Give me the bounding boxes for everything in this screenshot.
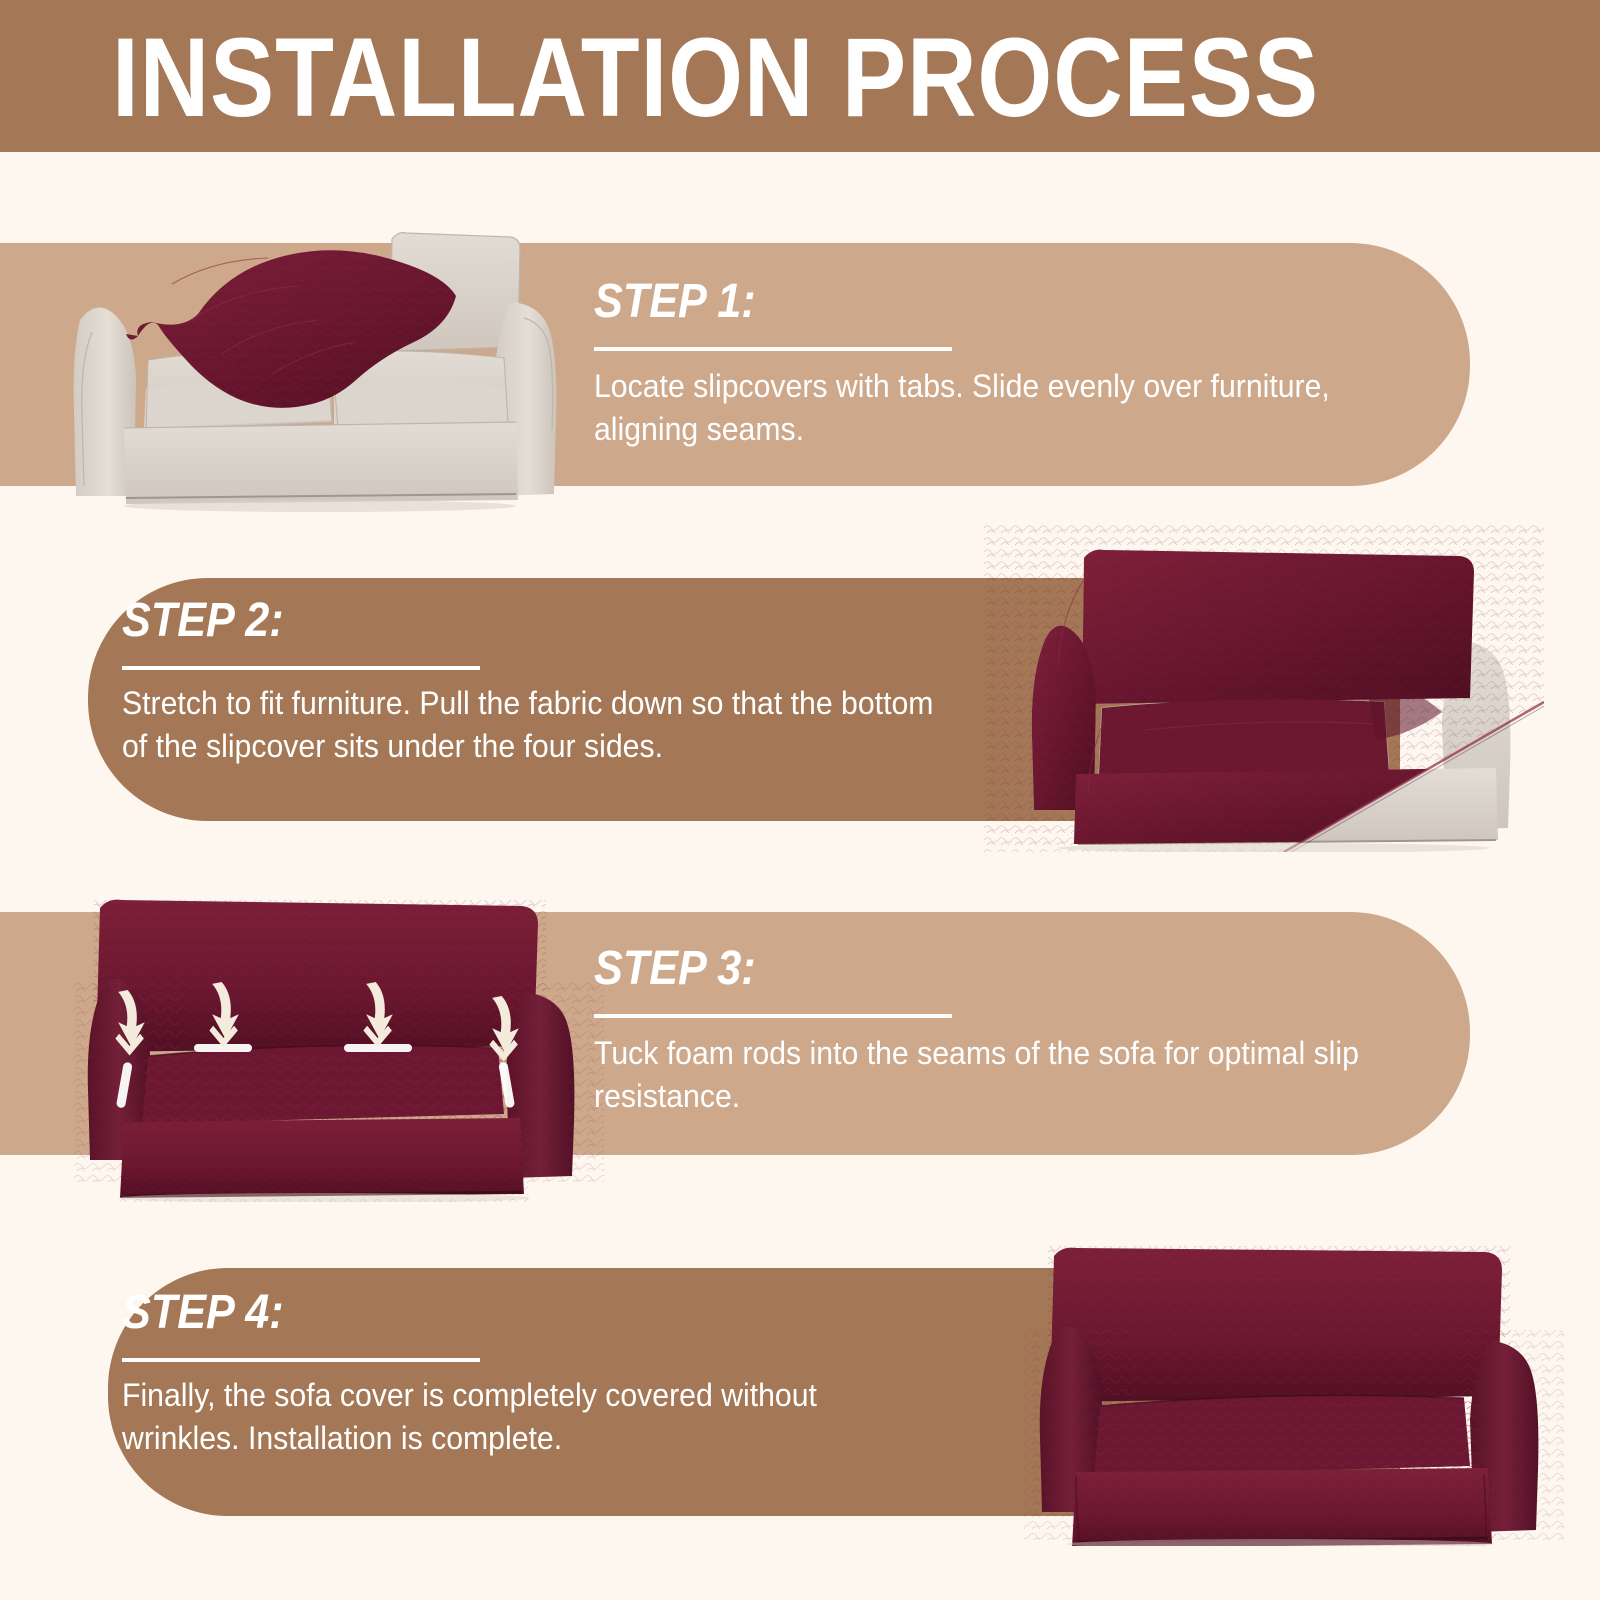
- step-3-sofa-image: [44, 872, 604, 1202]
- step-3-body: Tuck foam rods into the seams of the sof…: [594, 1032, 1431, 1118]
- sofa-fully-covered-illustration: [984, 1206, 1564, 1546]
- page-title: INSTALLATION PROCESS: [112, 20, 1319, 136]
- step-2-divider: [122, 666, 480, 670]
- step-4-sofa-image: [984, 1206, 1564, 1546]
- step-1-sofa-image: [62, 192, 582, 512]
- step-1-divider: [594, 347, 952, 351]
- sofa-covered-with-tuck-arrows-illustration: [44, 872, 604, 1202]
- header-band: INSTALLATION PROCESS: [0, 0, 1600, 152]
- step-4-divider: [122, 1358, 480, 1362]
- step-4-body: Finally, the sofa cover is completely co…: [122, 1374, 940, 1460]
- step-1-body: Locate slipcovers with tabs. Slide evenl…: [594, 365, 1431, 451]
- step-4-heading: STEP 4:: [122, 1288, 284, 1338]
- sofa-half-covered-illustration: [984, 522, 1544, 852]
- step-2-body: Stretch to fit furniture. Pull the fabri…: [122, 682, 940, 768]
- step-2-sofa-image: [984, 522, 1544, 852]
- step-3-divider: [594, 1014, 952, 1018]
- step-3-heading: STEP 3:: [594, 944, 756, 994]
- step-1-heading: STEP 1:: [594, 277, 756, 327]
- step-2-heading: STEP 2:: [122, 596, 284, 646]
- sofa-with-draped-slipcover-illustration: [62, 192, 582, 512]
